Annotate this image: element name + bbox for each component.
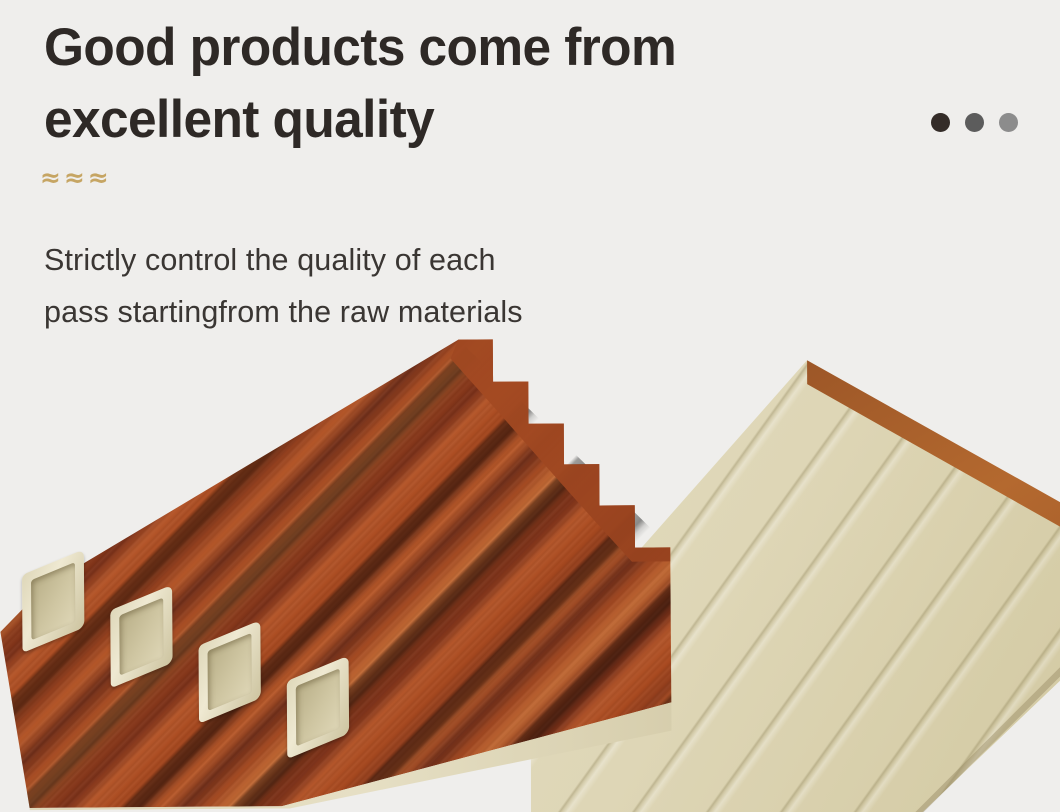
page-subtitle: Strictly control the quality of each pas… bbox=[44, 234, 832, 338]
product-image-area bbox=[0, 330, 1060, 812]
carousel-dot-active[interactable] bbox=[931, 113, 950, 132]
product-fluted-panel bbox=[0, 335, 762, 811]
text-block: Good products come from excellent qualit… bbox=[44, 12, 904, 156]
wave-icon: ≈ bbox=[64, 164, 85, 192]
promo-banner: Good products come from excellent qualit… bbox=[0, 0, 1060, 812]
carousel-dot-inactive[interactable] bbox=[965, 113, 984, 132]
carousel-dot-inactive[interactable] bbox=[999, 113, 1018, 132]
page-title: Good products come from excellent qualit… bbox=[44, 12, 878, 156]
wave-divider: ≈ ≈ ≈ bbox=[40, 164, 109, 192]
fluted-panel-grooves bbox=[0, 335, 762, 811]
wave-icon: ≈ bbox=[40, 164, 61, 192]
wave-icon: ≈ bbox=[88, 164, 109, 192]
carousel-dots[interactable] bbox=[931, 113, 1018, 132]
